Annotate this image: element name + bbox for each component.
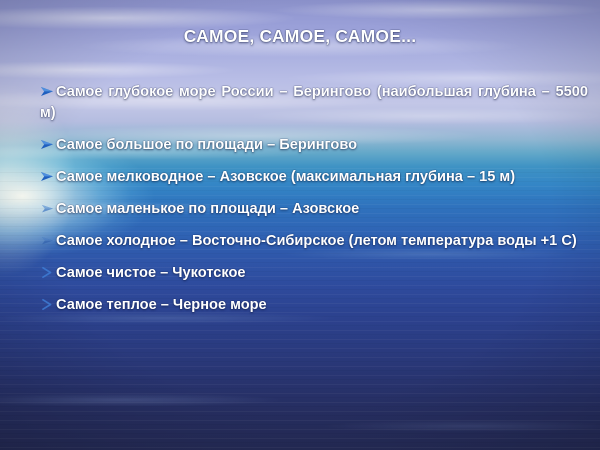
bullet-text: Самое глубокое море России – Берингово (… (40, 84, 588, 121)
bullet-item: Самое мелководное – Азовское (максимальн… (40, 167, 588, 188)
bullet-text: Самое маленькое по площади – Азовское (56, 201, 359, 217)
chevron-right-icon (40, 298, 55, 311)
bullet-item: Самое маленькое по площади – Азовское (40, 199, 588, 220)
bullet-text: Самое холодное – Восточно-Сибирское (лет… (56, 233, 577, 249)
bullet-item: Самое холодное – Восточно-Сибирское (лет… (40, 231, 588, 252)
bullet-item: Самое глубокое море России – Берингово (… (40, 82, 588, 124)
slide-title-bar: САМОЕ, САМОЕ, САМОЕ... (0, 26, 600, 47)
arrowhead-right-icon (40, 234, 55, 247)
presentation-slide: САМОЕ, САМОЕ, САМОЕ... Самое глубокое мо… (0, 0, 600, 450)
bullet-text: Самое чистое – Чукотское (56, 265, 246, 281)
chevron-right-icon (40, 266, 55, 279)
arrowhead-right-icon (40, 138, 55, 151)
arrowhead-right-icon (40, 202, 55, 215)
bullet-item: Самое чистое – Чукотское (40, 263, 588, 284)
bullet-text: Самое теплое – Черное море (56, 297, 267, 313)
bullet-item: Самое теплое – Черное море (40, 295, 588, 316)
slide-title: САМОЕ, САМОЕ, САМОЕ... (184, 26, 417, 47)
bullet-item: Самое большое по площади – Берингово (40, 135, 588, 156)
bullet-text: Самое мелководное – Азовское (максимальн… (56, 169, 515, 185)
arrowhead-right-icon (40, 170, 55, 183)
bullet-list: Самое глубокое море России – Берингово (… (40, 82, 588, 316)
arrowhead-right-icon (40, 85, 55, 98)
bullet-text: Самое большое по площади – Берингово (56, 137, 357, 153)
